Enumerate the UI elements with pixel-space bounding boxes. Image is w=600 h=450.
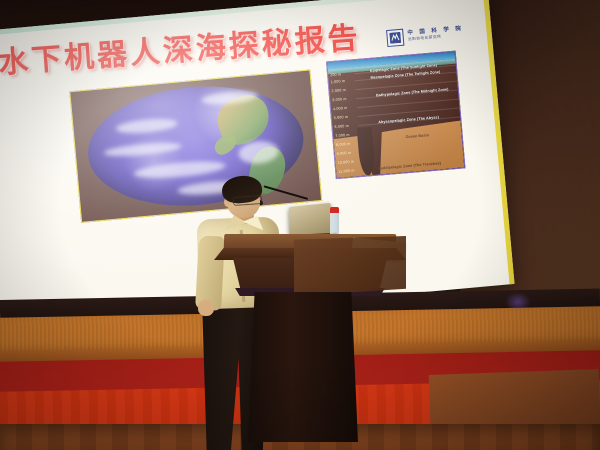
ocean-depth-chart: 200 m 1,000 m 2,000 m 3,000 m 4,000 m 5,… [326, 51, 465, 179]
speaker-arm [195, 235, 225, 310]
cas-logo-text: 中 国 科 学 院 沈阳自动化研究所 [407, 27, 464, 42]
podium-front-face [294, 236, 406, 296]
cas-emblem-icon [386, 29, 404, 47]
cloud-band [103, 140, 182, 158]
cloud-band [115, 117, 178, 136]
speaker-hand [198, 300, 214, 316]
earth-globe-icon [83, 78, 309, 215]
cas-logo: 中 国 科 学 院 沈阳自动化研究所 [386, 24, 464, 47]
cloud-band [133, 159, 226, 181]
stage-light-glow [505, 292, 531, 312]
podium-column [248, 292, 358, 442]
earth-image-panel [69, 69, 322, 222]
water-bottle-cap [330, 207, 339, 213]
presentation-photo: 水下机器人深海探秘报告 中 国 科 学 院 沈阳自动化研究所 [0, 0, 600, 450]
